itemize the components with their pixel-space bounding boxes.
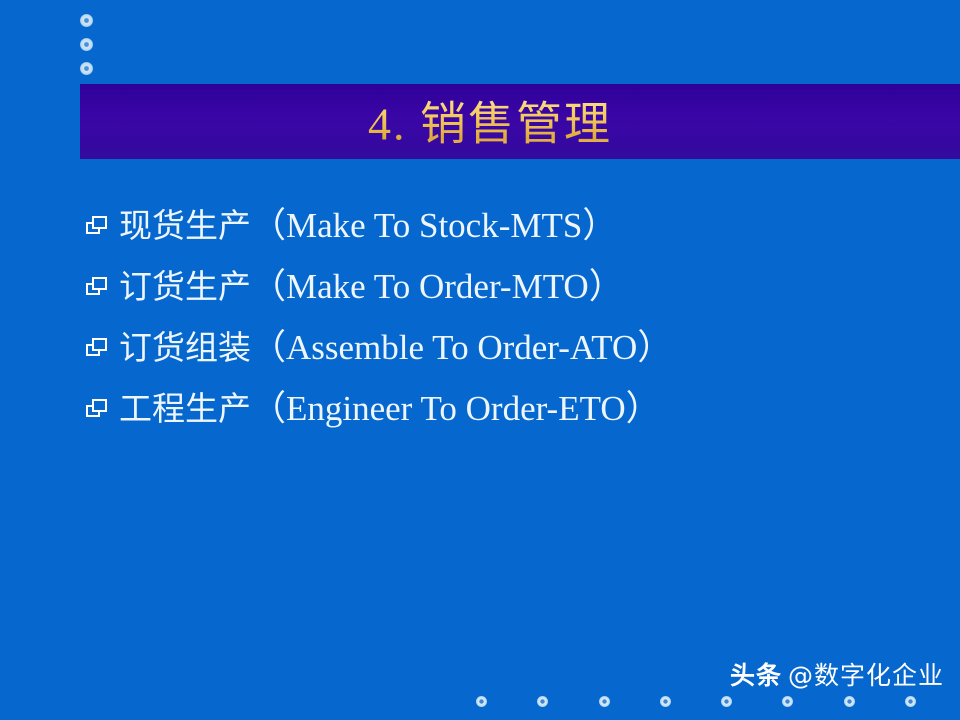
list-item-label-cjk: 工程生产 [119, 389, 251, 428]
list-item-label-cjk: 订货组装 [119, 328, 251, 367]
list-item-label: 订货生产（Make To Order-MTO） [119, 261, 624, 313]
list-item-label-latin: （Make To Stock-MTS） [251, 206, 617, 245]
dot-icon [80, 62, 93, 75]
dot-icon [782, 696, 793, 707]
double-rectangle-bullet-icon [86, 399, 112, 421]
list-item: 订货生产（Make To Order-MTO） [86, 261, 946, 322]
top-left-dot-decoration [80, 8, 96, 78]
dot-icon [537, 696, 548, 707]
dot-icon [80, 14, 93, 27]
watermark: 头条@数字化企业 [730, 656, 944, 692]
list-item: 工程生产（Engineer To Order-ETO） [86, 383, 946, 444]
list-item-label-latin: （Assemble To Order-ATO） [251, 328, 672, 367]
list-item-label-cjk: 订货生产 [119, 267, 251, 306]
double-rectangle-bullet-icon [86, 338, 112, 360]
bullet-list: 现货生产（Make To Stock-MTS） 订货生产（Make To Ord… [86, 200, 946, 444]
dot-icon [905, 696, 916, 707]
list-item-label: 现货生产（Make To Stock-MTS） [119, 200, 617, 252]
list-item-label-latin: （Make To Order-MTO） [251, 267, 624, 306]
dot-icon [80, 38, 93, 51]
list-item: 订货组装（Assemble To Order-ATO） [86, 322, 946, 383]
list-item: 现货生产（Make To Stock-MTS） [86, 200, 946, 261]
watermark-handle: @数字化企业 [788, 661, 944, 690]
watermark-brand: 头条 [730, 661, 782, 690]
double-rectangle-bullet-icon [86, 216, 112, 238]
list-item-label-cjk: 现货生产 [119, 206, 251, 245]
list-item-label: 订货组装（Assemble To Order-ATO） [119, 322, 672, 374]
bottom-dot-decoration [472, 696, 960, 710]
list-item-label: 工程生产（Engineer To Order-ETO） [119, 383, 661, 435]
dot-icon [599, 696, 610, 707]
dot-icon [844, 696, 855, 707]
slide-title: 4. 销售管理 [80, 87, 960, 153]
dot-icon [721, 696, 732, 707]
slide-title-band: 4. 销售管理 [80, 84, 960, 159]
list-item-label-latin: （Engineer To Order-ETO） [251, 389, 661, 428]
presentation-slide: 4. 销售管理 现货生产（Make To Stock-MTS） 订货生产（Mak… [0, 0, 960, 720]
dot-icon [476, 696, 487, 707]
double-rectangle-bullet-icon [86, 277, 112, 299]
dot-icon [660, 696, 671, 707]
